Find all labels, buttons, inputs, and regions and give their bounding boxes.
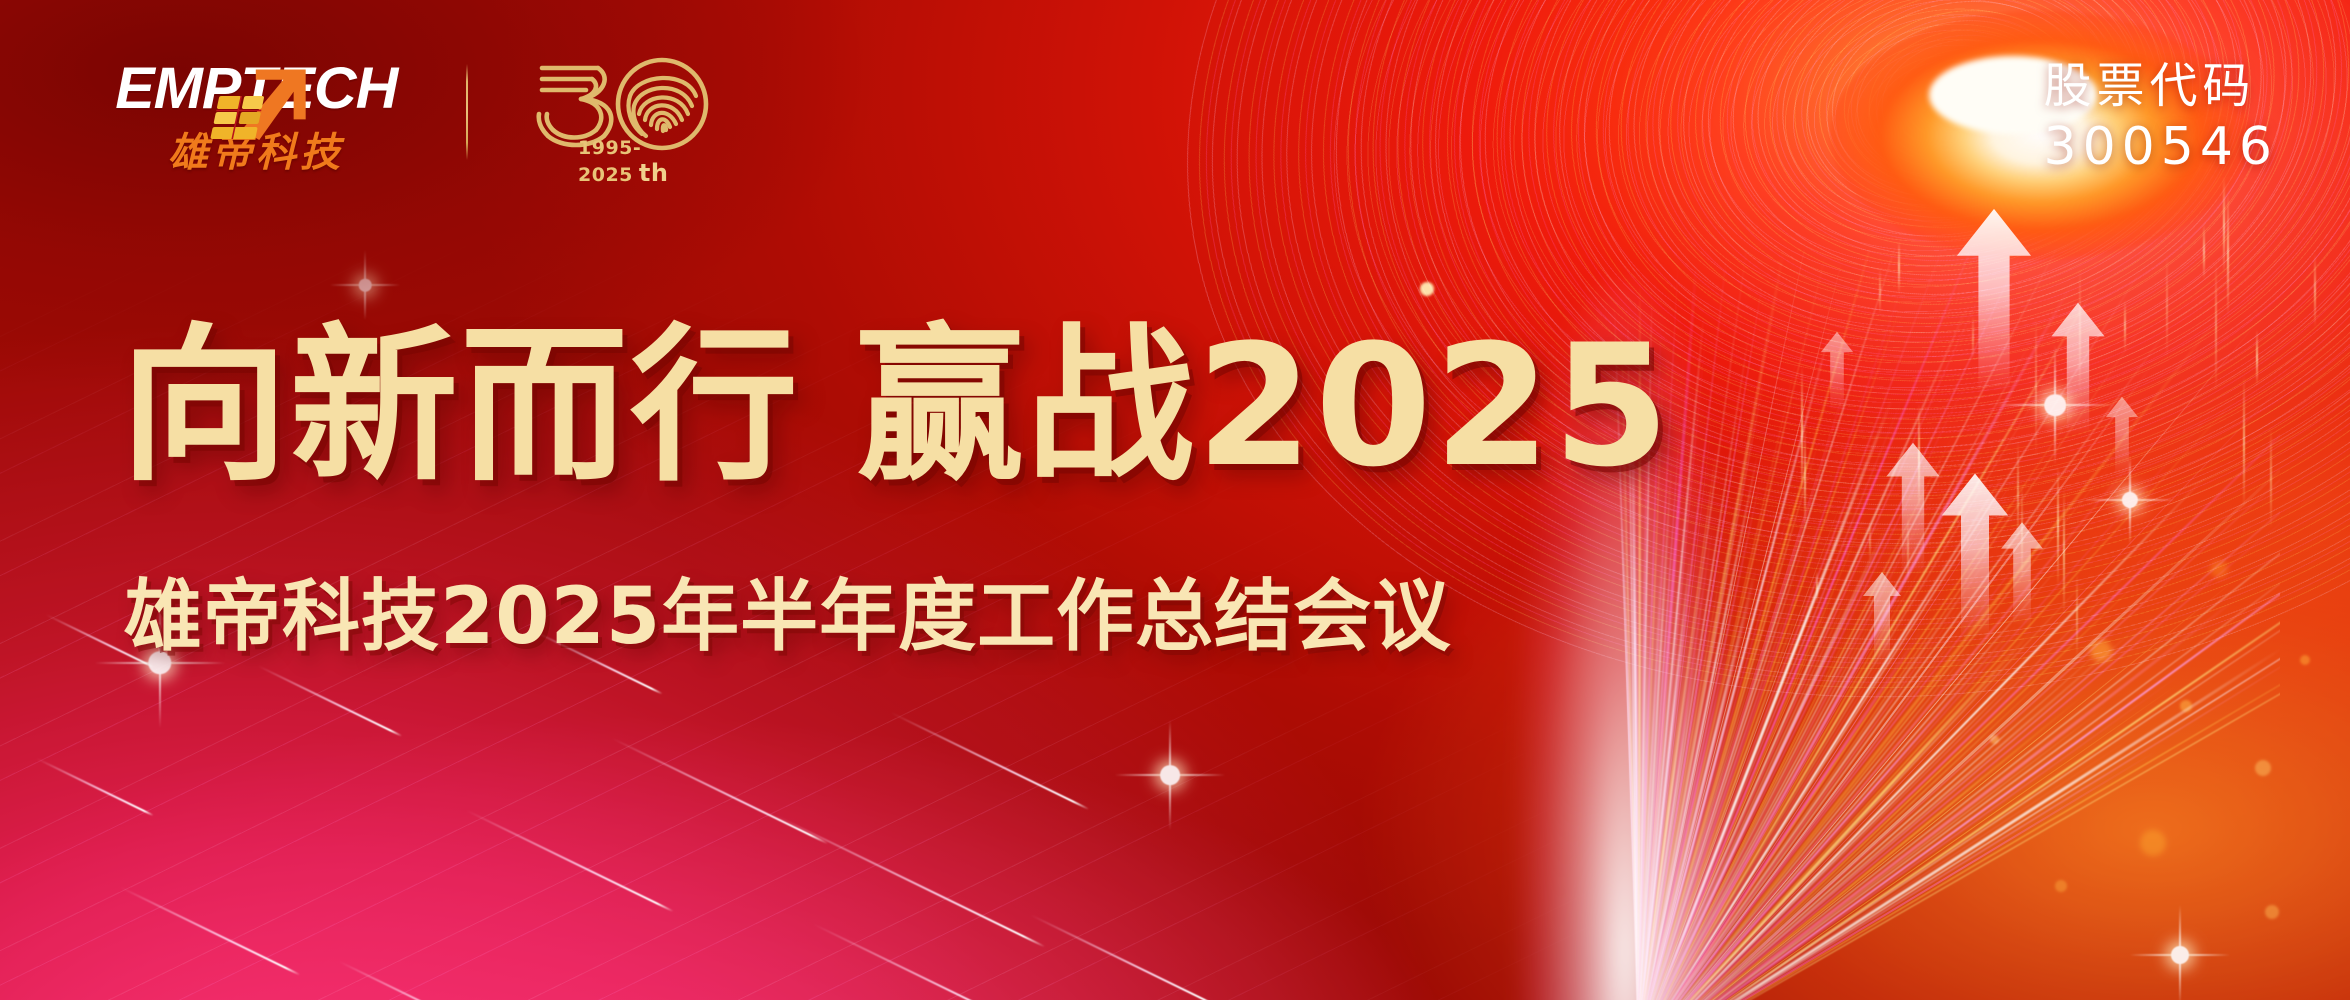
brand-header: EMPTECH 雄帝科技 [118,52,716,172]
streak-highlight [339,961,502,1000]
bokeh-dot [2300,655,2310,665]
stock-code-label: 股票代码 [2043,58,2278,115]
anniversary-year-range: 1995-2025 [578,137,641,186]
anniversary-suffix: th [639,159,669,187]
anniversary-years: 1995-2025th [578,137,716,187]
streak-highlight [891,712,1090,810]
emptech-logo[interactable]: EMPTECH 雄帝科技 [118,60,418,165]
header-divider [466,64,468,160]
streak-highlight [258,665,403,737]
streak-highlight [813,923,1048,1000]
stock-code-block: 股票代码 300546 [2043,58,2278,180]
streak-highlight [775,814,1046,947]
poster-canvas: EMPTECH 雄帝科技 [0,0,2350,1000]
anniversary-logo[interactable]: 1995-2025th [526,52,716,172]
headline-part-1: 向新而行 [120,308,800,504]
streak-highlight [120,886,301,975]
headline-part-2: 赢战2025 [856,308,1672,504]
streak-highlight [36,758,154,817]
main-headline: 向新而行赢战2025 [120,322,1672,490]
event-subtitle: 雄帝科技2025年半年度工作总结会议 [124,578,1451,656]
smart-card-chip-icon [210,93,276,143]
streak-highlight [612,737,829,844]
stock-code-number: 300546 [2043,115,2278,180]
streak-highlight [466,810,674,913]
